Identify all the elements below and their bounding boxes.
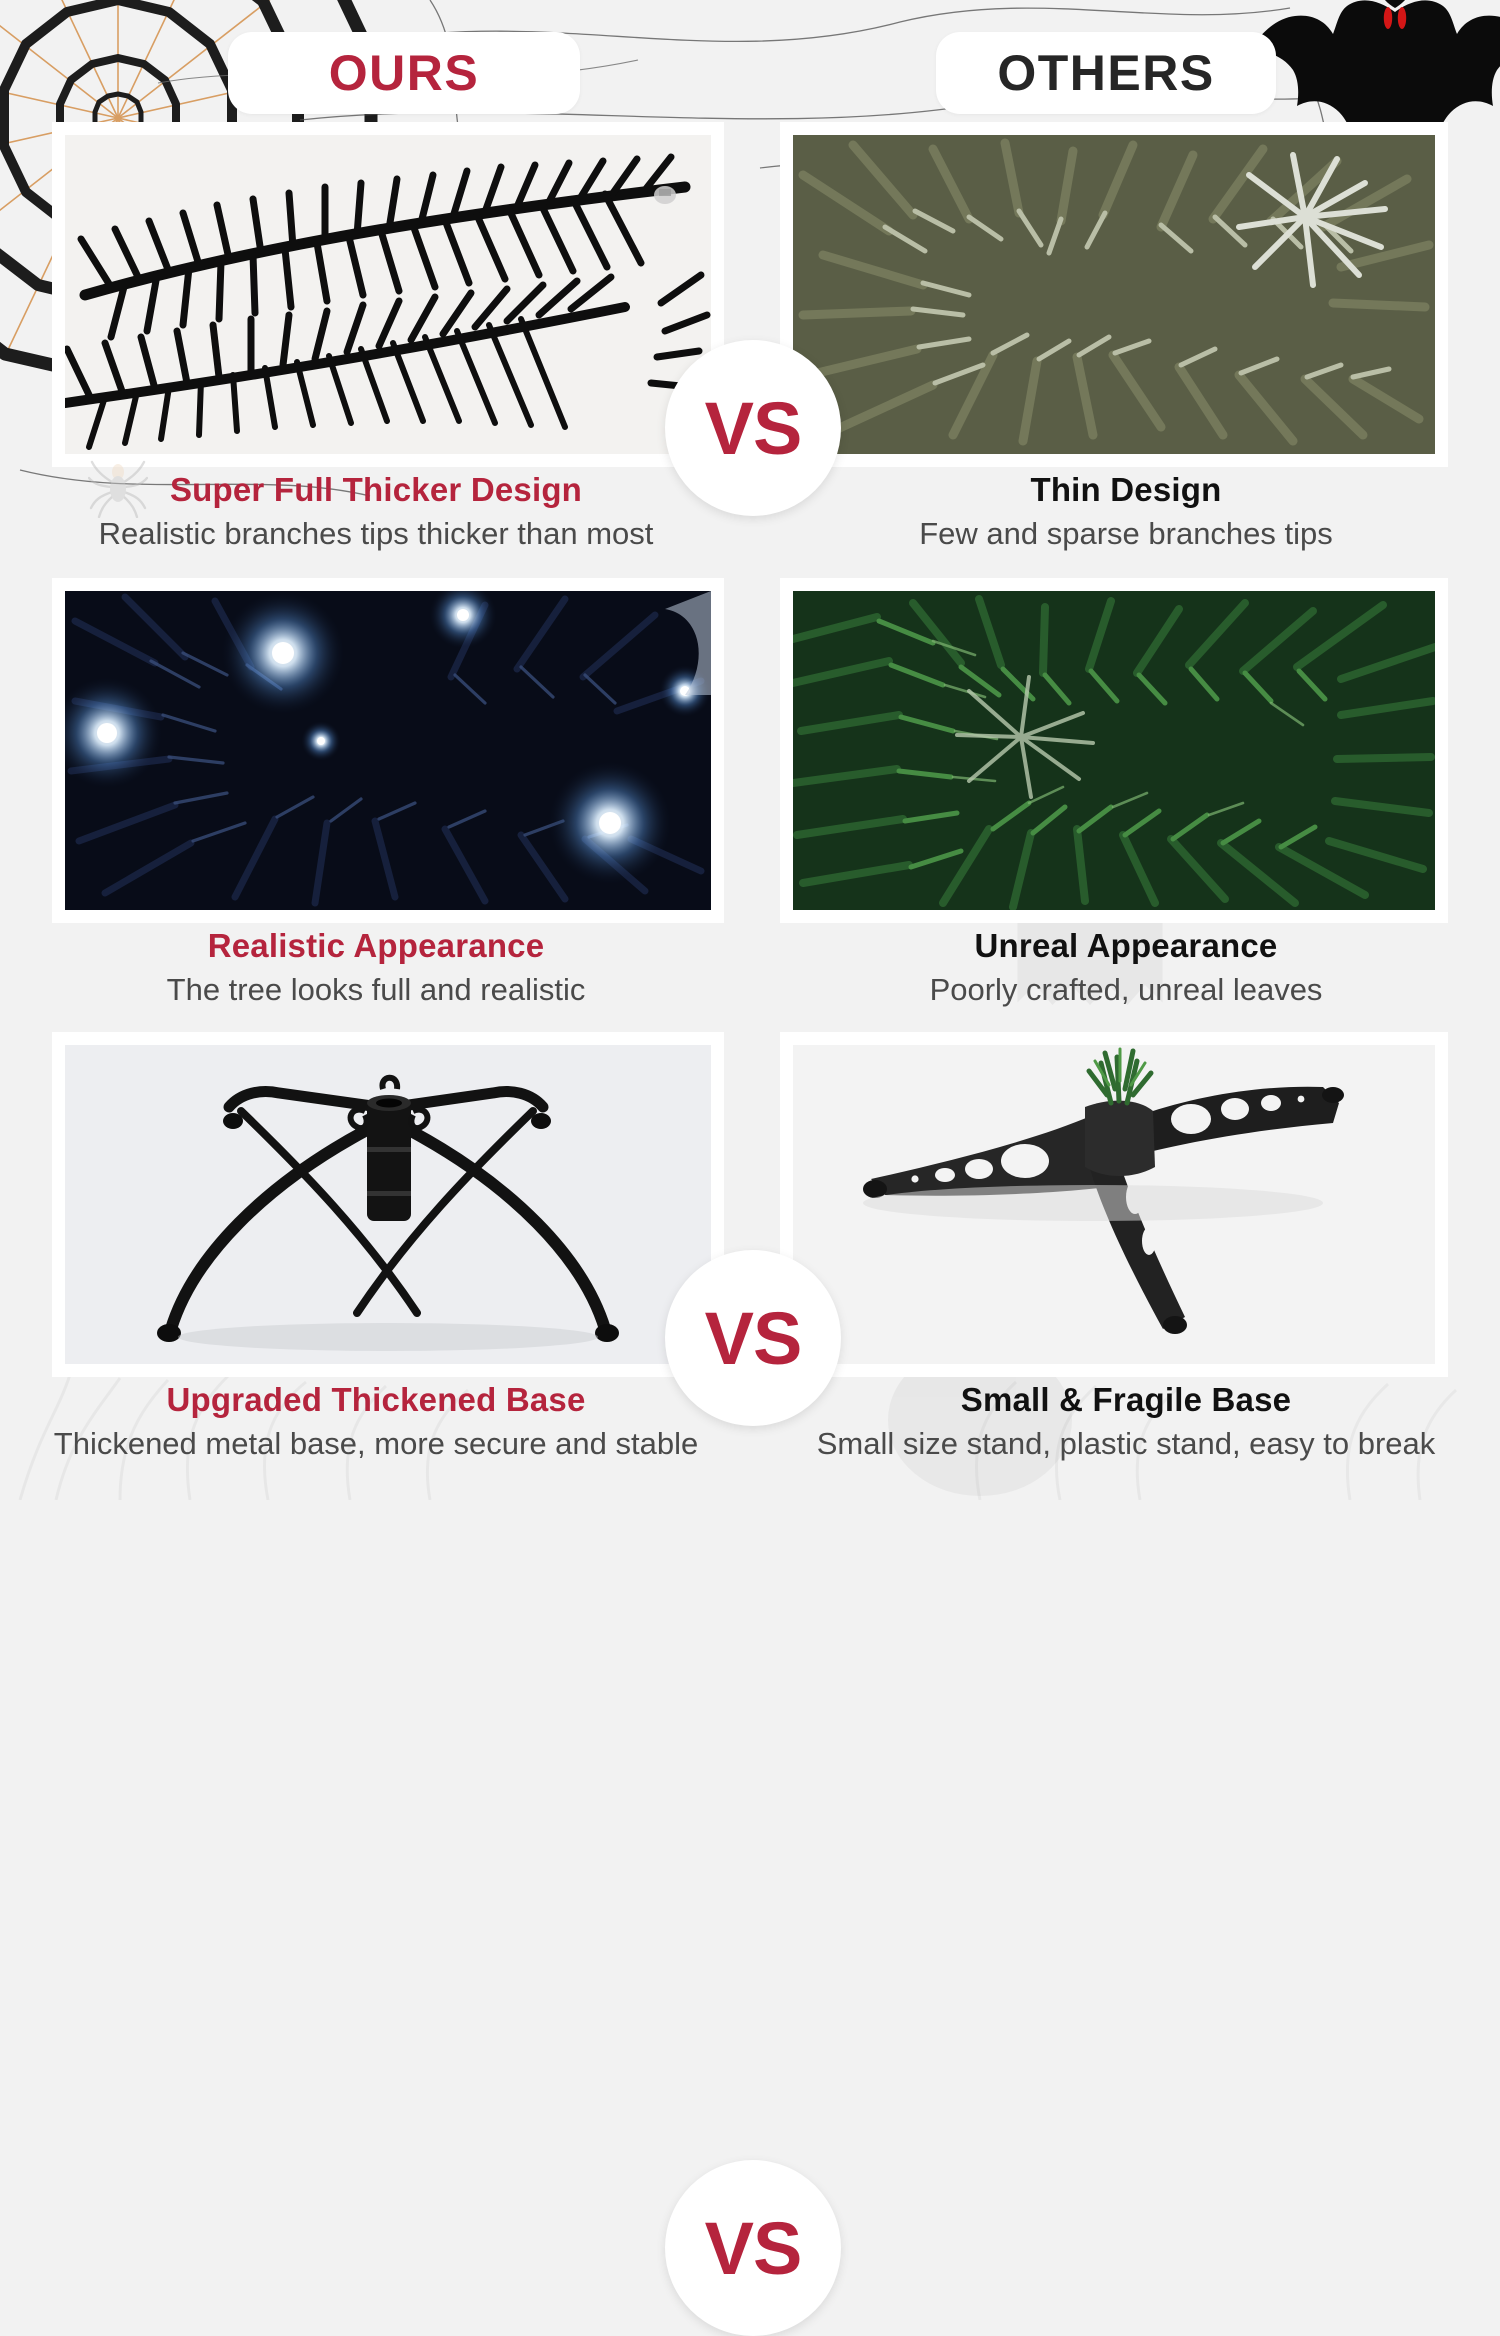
others-image-card bbox=[780, 578, 1448, 923]
others-feature-subtitle: Small size stand, plastic stand, easy to… bbox=[752, 1424, 1500, 1464]
vs-label: VS bbox=[705, 386, 802, 471]
ours-header-label: OURS bbox=[329, 44, 479, 102]
comparison-row: VS Super Full Thicker Design Realistic b… bbox=[0, 122, 1500, 580]
black-tree-with-white-lights-image bbox=[65, 591, 711, 910]
ours-feature-title: Realistic Appearance bbox=[0, 926, 752, 966]
ours-image-card bbox=[52, 1032, 724, 1377]
others-image-card bbox=[780, 122, 1448, 467]
others-image-card bbox=[780, 1032, 1448, 1377]
ours-caption: Realistic Appearance The tree looks full… bbox=[0, 926, 752, 1010]
ours-feature-subtitle: Thickened metal base, more secure and st… bbox=[0, 1424, 752, 1464]
black-metal-tree-stand-image bbox=[65, 1045, 711, 1364]
vs-label: VS bbox=[705, 2206, 802, 2291]
vs-label: VS bbox=[705, 1296, 802, 1381]
ours-header-pill: OURS bbox=[228, 32, 580, 114]
ours-feature-subtitle: Realistic branches tips thicker than mos… bbox=[0, 514, 752, 554]
stand-column bbox=[367, 1095, 411, 1221]
others-caption: Unreal Appearance Poorly crafted, unreal… bbox=[752, 926, 1500, 1010]
flat-green-artificial-foliage-image bbox=[793, 591, 1435, 910]
others-feature-title: Thin Design bbox=[752, 470, 1500, 510]
others-header-label: OTHERS bbox=[997, 44, 1214, 102]
others-feature-title: Unreal Appearance bbox=[752, 926, 1500, 966]
others-feature-subtitle: Poorly crafted, unreal leaves bbox=[752, 970, 1500, 1010]
comparison-row: VS Realistic Appearance The tree looks f… bbox=[0, 578, 1500, 1036]
others-header-pill: OTHERS bbox=[936, 32, 1276, 114]
column-headers: OURS OTHERS bbox=[0, 32, 1500, 116]
others-feature-title: Small & Fragile Base bbox=[752, 1380, 1500, 1420]
ours-image-card bbox=[52, 122, 724, 467]
sparse-green-needles-closeup-image bbox=[793, 135, 1435, 454]
black-plastic-tree-stand-image bbox=[793, 1045, 1435, 1364]
ours-caption: Super Full Thicker Design Realistic bran… bbox=[0, 470, 752, 554]
others-feature-subtitle: Few and sparse branches tips bbox=[752, 514, 1500, 554]
black-thick-branch-closeup-image bbox=[65, 135, 711, 454]
ours-feature-subtitle: The tree looks full and realistic bbox=[0, 970, 752, 1010]
ours-image-card bbox=[52, 578, 724, 923]
ours-feature-title: Upgraded Thickened Base bbox=[0, 1380, 752, 1420]
vs-badge: VS bbox=[665, 340, 841, 516]
light-bulb-detail bbox=[654, 186, 676, 204]
comparison-infographic: OURS OTHERS bbox=[0, 0, 1500, 1500]
ours-caption: Upgraded Thickened Base Thickened metal … bbox=[0, 1380, 752, 1464]
others-caption: Thin Design Few and sparse branches tips bbox=[752, 470, 1500, 554]
vs-badge: VS bbox=[665, 1250, 841, 1426]
vs-badge: VS bbox=[665, 2160, 841, 2336]
others-caption: Small & Fragile Base Small size stand, p… bbox=[752, 1380, 1500, 1464]
spider-icon bbox=[88, 460, 148, 518]
